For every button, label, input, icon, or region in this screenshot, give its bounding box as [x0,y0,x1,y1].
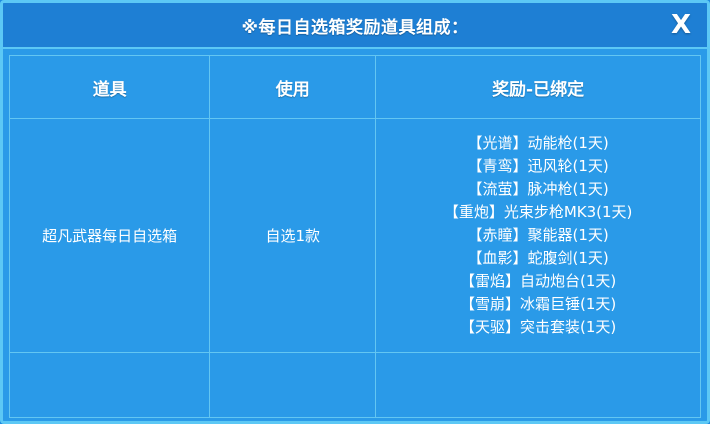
cell-item-name: 超凡武器每日自选箱 [10,119,210,353]
reward-item: 【雷焰】自动炮台(1天) [380,270,696,293]
reward-item: 【赤瞳】聚能器(1天) [380,224,696,247]
cell-use-rule [210,353,376,418]
reward-item: 【流萤】脉冲枪(1天) [380,178,696,201]
close-icon[interactable]: X [671,12,691,38]
reward-item: 【天驱】突击套装(1天) [380,316,696,339]
dialog-body: 道具 使用 奖励-已绑定 超凡武器每日自选箱 自选1款 【光谱】动能枪(1天) … [3,49,707,424]
cell-reward-list: 【光谱】动能枪(1天) 【青鸾】迅风轮(1天) 【流萤】脉冲枪(1天) 【重炮】… [376,119,701,353]
table-header: 道具 使用 奖励-已绑定 [10,56,701,119]
reward-item: 【青鸾】迅风轮(1天) [380,155,696,178]
table-row [10,353,701,418]
reward-table: 道具 使用 奖励-已绑定 超凡武器每日自选箱 自选1款 【光谱】动能枪(1天) … [9,55,701,418]
cell-use-rule: 自选1款 [210,119,376,353]
reward-item: 【血影】蛇腹剑(1天) [380,247,696,270]
column-header-reward: 奖励-已绑定 [376,56,701,119]
dialog-titlebar: ※每日自选箱奖励道具组成： X [3,3,707,49]
table-row: 超凡武器每日自选箱 自选1款 【光谱】动能枪(1天) 【青鸾】迅风轮(1天) 【… [10,119,701,353]
reward-dialog: ※每日自选箱奖励道具组成： X 道具 使用 奖励-已绑定 超凡武器每日自选箱 自… [0,0,710,424]
reward-item: 【雪崩】冰霜巨锤(1天) [380,293,696,316]
reward-item: 【光谱】动能枪(1天) [380,132,696,155]
page-title: ※每日自选箱奖励道具组成： [241,13,468,38]
column-header-item: 道具 [10,56,210,119]
cell-reward-list [376,353,701,418]
column-header-use: 使用 [210,56,376,119]
table-header-row: 道具 使用 奖励-已绑定 [10,56,701,119]
table-body: 超凡武器每日自选箱 自选1款 【光谱】动能枪(1天) 【青鸾】迅风轮(1天) 【… [10,119,701,418]
reward-item: 【重炮】光束步枪MK3(1天) [380,201,696,224]
cell-item-name [10,353,210,418]
